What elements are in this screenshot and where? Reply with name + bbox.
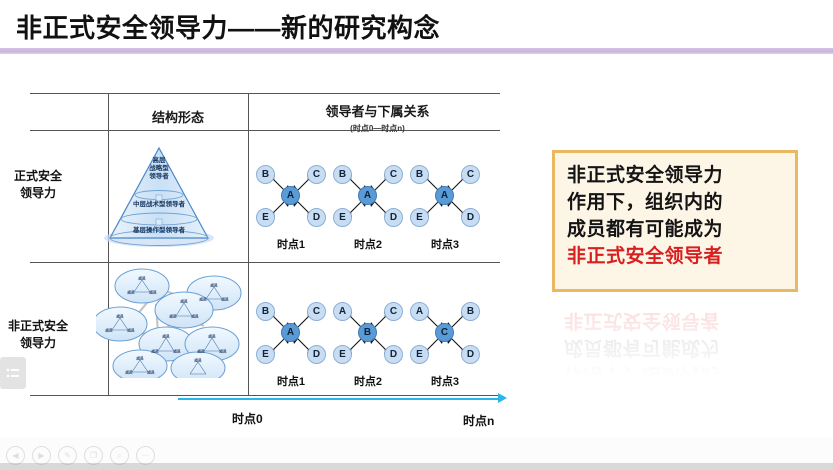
callout-line-3-plain: 成员 xyxy=(567,219,606,240)
network-center-node: B xyxy=(358,323,377,342)
reflection-line-3-plain: 成员 xyxy=(564,337,603,358)
network-node: D xyxy=(307,345,326,364)
network-node: E xyxy=(410,345,429,364)
cluster-member-label: 成员 xyxy=(125,371,132,376)
cluster-member-label: 成员 xyxy=(116,315,123,320)
callout-box: 非正式安全领导力 作用下，组织内的 成员都有可能成为 非正式安全领导者 xyxy=(552,150,798,292)
network-diagram-informal-t1: B C E D A xyxy=(255,300,327,366)
row-label-informal-line2: 领导力 xyxy=(0,335,78,352)
network-node: D xyxy=(384,345,403,364)
list-menu-icon xyxy=(6,367,20,379)
cluster-member-label: 成员 xyxy=(219,350,226,355)
tick-label-formal-1: 时点1 xyxy=(255,236,327,252)
callout-line-3: 成员都有可能成为 xyxy=(567,217,783,244)
network-node: E xyxy=(256,208,275,227)
cluster-member-label: 成员 xyxy=(127,329,134,334)
side-menu-button[interactable] xyxy=(0,357,26,389)
table-col-divider-2 xyxy=(248,93,249,395)
pyramid-diagram: 高层战略型领导者 中层战术型领导者 基层操作型领导者 xyxy=(100,145,218,250)
network-node: D xyxy=(384,208,403,227)
network-node: C xyxy=(307,165,326,184)
network-node: E xyxy=(256,345,275,364)
row-label-formal-line1: 正式安全 xyxy=(0,168,78,185)
network-node: C xyxy=(307,302,326,321)
table-rule-bottom xyxy=(30,395,500,396)
cluster-member-label: 成员 xyxy=(208,335,215,340)
network-center-node: C xyxy=(435,323,454,342)
network-node: B xyxy=(333,165,352,184)
reflection-line-4: 非正式安全领导者 xyxy=(564,306,786,333)
pyramid-level-base: 基层操作型领导者 xyxy=(100,227,218,235)
cluster-member-label: 成员 xyxy=(138,277,145,282)
timeline-start-label: 时点0 xyxy=(232,410,263,427)
table-header-structure: 结构形态 xyxy=(108,107,248,126)
network-center-node: A xyxy=(281,323,300,342)
network-node: A xyxy=(410,302,429,321)
cluster-member-label: 成员 xyxy=(147,371,154,376)
cluster-member-label: 成员 xyxy=(221,298,228,303)
callout-line-2: 作用下，组织内的 xyxy=(567,190,783,217)
network-node: D xyxy=(461,208,480,227)
table-header-relation-text: 领导者与下属关系 xyxy=(325,104,429,119)
network-center-node: A xyxy=(358,186,377,205)
network-center-node: A xyxy=(435,186,454,205)
table-header-relation: 领导者与下属关系 (时点0—时点n) xyxy=(255,101,500,134)
playback-toolbar[interactable]: ◀ ▶ ✎ ❐ ⌕ ⋯ xyxy=(6,446,155,465)
row-label-formal: 正式安全 领导力 xyxy=(0,168,78,203)
network-diagram-formal-t1: B C E D A xyxy=(255,163,327,229)
informal-cluster-shape xyxy=(96,266,244,378)
callout-line-1: 非正式安全领导力 xyxy=(567,163,783,190)
network-diagram-formal-t3: B C E D A xyxy=(409,163,481,229)
network-node: D xyxy=(461,345,480,364)
network-node: A xyxy=(333,302,352,321)
callout-line-4-highlight: 非正式安全领导者 xyxy=(567,244,783,271)
tick-label-informal-3: 时点3 xyxy=(409,373,481,389)
zoom-icon[interactable]: ⌕ xyxy=(110,446,129,465)
more-icon[interactable]: ⋯ xyxy=(136,446,155,465)
reflection-line-3-bold: 都有可能成为 xyxy=(603,337,720,358)
network-node: B xyxy=(461,302,480,321)
table-rule-top xyxy=(30,93,500,94)
cluster-member-label: 成员 xyxy=(151,350,158,355)
cluster-member-label: 成员 xyxy=(199,298,206,303)
row-label-informal: 非正式安全 领导力 xyxy=(0,318,78,353)
network-node: B xyxy=(256,302,275,321)
slide-canvas: 非正式安全领导力——新的研究构念 结构形态 领导者与下属关系 (时点0—时点n)… xyxy=(0,0,833,470)
row-label-formal-line2: 领导力 xyxy=(0,185,78,202)
play-icon[interactable]: ▶ xyxy=(32,446,51,465)
reflection-line-2: 作用下，组织内的 xyxy=(564,360,786,387)
reflection-line-1: 非正式安全领导力 xyxy=(564,387,786,392)
network-node: C xyxy=(384,165,403,184)
network-node: E xyxy=(333,208,352,227)
network-node: C xyxy=(384,302,403,321)
network-diagram-informal-t2: A C E D B xyxy=(332,300,404,366)
copy-icon[interactable]: ❐ xyxy=(84,446,103,465)
cluster-member-label: 成员 xyxy=(127,291,134,296)
pen-icon[interactable]: ✎ xyxy=(58,446,77,465)
network-node: E xyxy=(410,208,429,227)
tick-label-informal-2: 时点2 xyxy=(332,373,404,389)
table-header-relation-sub: (时点0—时点n) xyxy=(255,123,500,134)
tick-label-formal-2: 时点2 xyxy=(332,236,404,252)
pyramid-level-top: 高层战略型领导者 xyxy=(100,157,218,181)
tick-label-informal-1: 时点1 xyxy=(255,373,327,389)
pyramid-level-middle: 中层战术型领导者 xyxy=(100,201,218,209)
timeline-axis xyxy=(178,398,501,400)
callout-line-3-bold: 都有可能成为 xyxy=(606,219,723,240)
tick-label-formal-3: 时点3 xyxy=(409,236,481,252)
network-node: D xyxy=(307,208,326,227)
informal-network-diagram: 成员 成员 成员 成员 成员 成员 成员 成员 成员 成员 成员 成员 成员 成… xyxy=(96,266,244,378)
timeline-end-label: 时点n xyxy=(463,412,494,429)
network-node: B xyxy=(256,165,275,184)
table-rule-mid xyxy=(30,262,500,263)
cluster-member-label: 成员 xyxy=(197,350,204,355)
title-divider xyxy=(0,48,833,54)
cluster-member-label: 成员 xyxy=(210,284,217,289)
row-label-informal-line1: 非正式安全 xyxy=(0,318,78,335)
network-diagram-informal-t3: A B E D C xyxy=(409,300,481,366)
network-center-node: A xyxy=(281,186,300,205)
reflection-line-3: 成员都有可能成为 xyxy=(564,333,786,360)
callout-reflection: 非正式安全领导力 作用下，组织内的 成员都有可能成为 非正式安全领导者 xyxy=(552,296,798,392)
cluster-member-label: 成员 xyxy=(173,350,180,355)
network-diagram-formal-t2: B C E D A xyxy=(332,163,404,229)
cluster-member-label: 成员 xyxy=(194,359,201,364)
cluster-member-label: 成员 xyxy=(162,335,169,340)
cluster-member-label: 成员 xyxy=(105,329,112,334)
network-node: E xyxy=(333,345,352,364)
cluster-member-label: 成员 xyxy=(149,291,156,296)
cluster-member-label: 成员 xyxy=(180,300,187,305)
prev-icon[interactable]: ◀ xyxy=(6,446,25,465)
cluster-member-label: 成员 xyxy=(191,315,198,320)
network-node: C xyxy=(461,165,480,184)
page-title: 非正式安全领导力——新的研究构念 xyxy=(16,8,440,45)
cluster-member-label: 成员 xyxy=(169,315,176,320)
timeline-arrowhead-icon xyxy=(498,393,507,403)
network-node: B xyxy=(410,165,429,184)
cluster-member-label: 成员 xyxy=(136,357,143,362)
